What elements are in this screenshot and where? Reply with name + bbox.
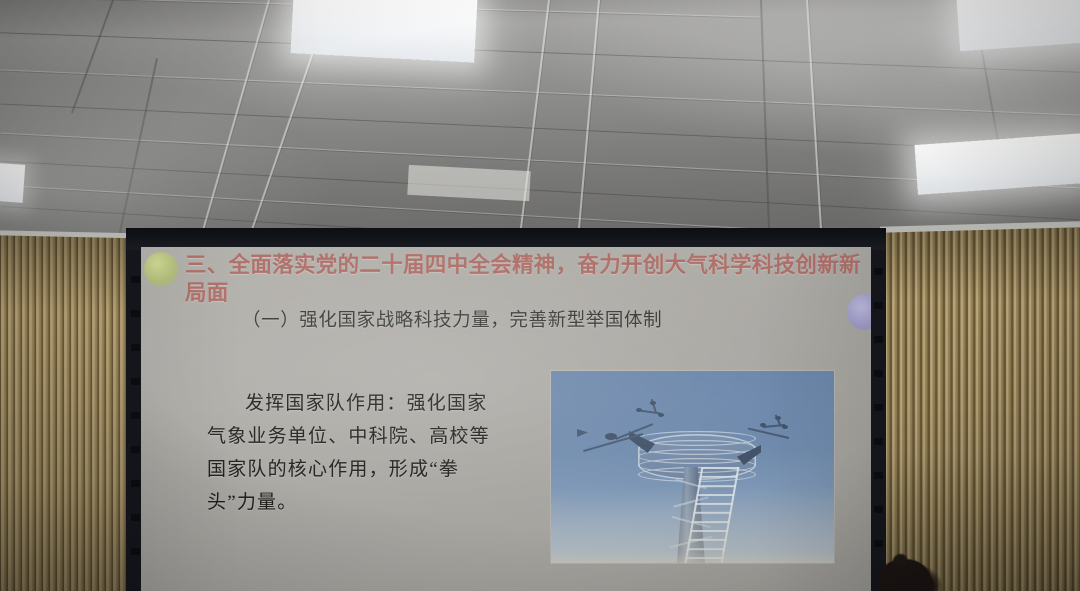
screen-clip — [874, 268, 883, 275]
slide-body-text: 发挥国家队作用：强化国家气象业务单位、中科院、高校等国家队的核心作用，形成“拳头… — [207, 387, 497, 519]
screen-clip — [874, 472, 883, 479]
screen-clip — [874, 540, 883, 547]
ceiling-light-top-right — [290, 0, 477, 63]
wood-slat-wall-right — [883, 228, 1080, 591]
ceiling-light-far-right — [956, 0, 1080, 51]
screen-clip — [874, 404, 883, 411]
weather-observation-tower-photo — [551, 371, 834, 563]
suspended-ceiling — [0, 0, 1080, 258]
screen-clip — [131, 344, 140, 351]
screen-clip — [131, 548, 140, 555]
screen-clip — [131, 276, 140, 283]
screen-clip — [131, 514, 140, 521]
audience-hair-tuft — [893, 554, 907, 566]
screen-clip — [131, 446, 140, 453]
slide-title: 三、全面落实党的二十届四中全会精神，奋力开创大气科学科技创新新局面 — [185, 251, 861, 307]
wind-vane-left — [577, 429, 588, 437]
ceiling-light-left-edge — [0, 161, 25, 203]
screen-clip — [874, 336, 883, 343]
green-circle-icon — [144, 252, 178, 286]
presentation-slide: 三、全面落实党的二十届四中全会精神，奋力开创大气科学科技创新新局面 （一）强化国… — [141, 247, 871, 591]
screen-clip — [131, 412, 140, 419]
screen-clip — [131, 310, 140, 317]
room-photo-scene: 三、全面落实党的二十届四中全会精神，奋力开创大气科学科技创新新局面 （一）强化国… — [0, 0, 1080, 591]
screen-clip — [874, 370, 883, 377]
screen-clip — [874, 302, 883, 309]
slide-subtitle: （一）强化国家战略科技力量，完善新型举国体制 — [242, 307, 662, 333]
screen-clip — [874, 438, 883, 445]
sensor-pod-left — [605, 433, 617, 440]
screen-clip — [131, 378, 140, 385]
screen-clip — [874, 506, 883, 513]
screen-clip — [131, 480, 140, 487]
